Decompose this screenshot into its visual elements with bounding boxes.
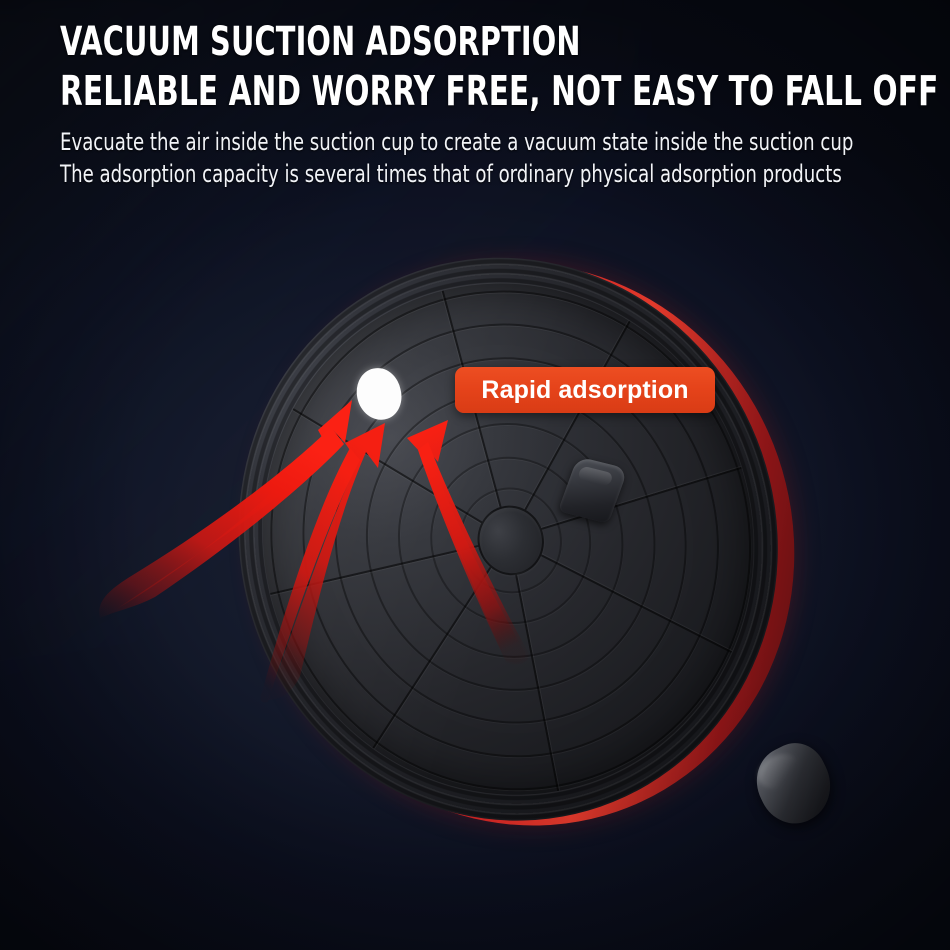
rapid-adsorption-badge-label: Rapid adsorption xyxy=(481,376,688,405)
airflow-arrow-right xyxy=(407,420,529,664)
description-line-1: Evacuate the air inside the suction cup … xyxy=(60,127,782,158)
description-line-2: The adsorption capacity is several times… xyxy=(60,159,782,190)
product-feature-image: Rapid adsorption VACUUM SUCTION ADSORPTI… xyxy=(0,0,950,950)
headline-secondary: RELIABLE AND WORRY FREE, NOT EASY TO FAL… xyxy=(60,71,748,113)
rapid-adsorption-badge: Rapid adsorption xyxy=(455,367,715,413)
text-block: VACUUM SUCTION ADSORPTION RELIABLE AND W… xyxy=(60,22,920,190)
headline-primary: VACUUM SUCTION ADSORPTION xyxy=(60,22,748,63)
